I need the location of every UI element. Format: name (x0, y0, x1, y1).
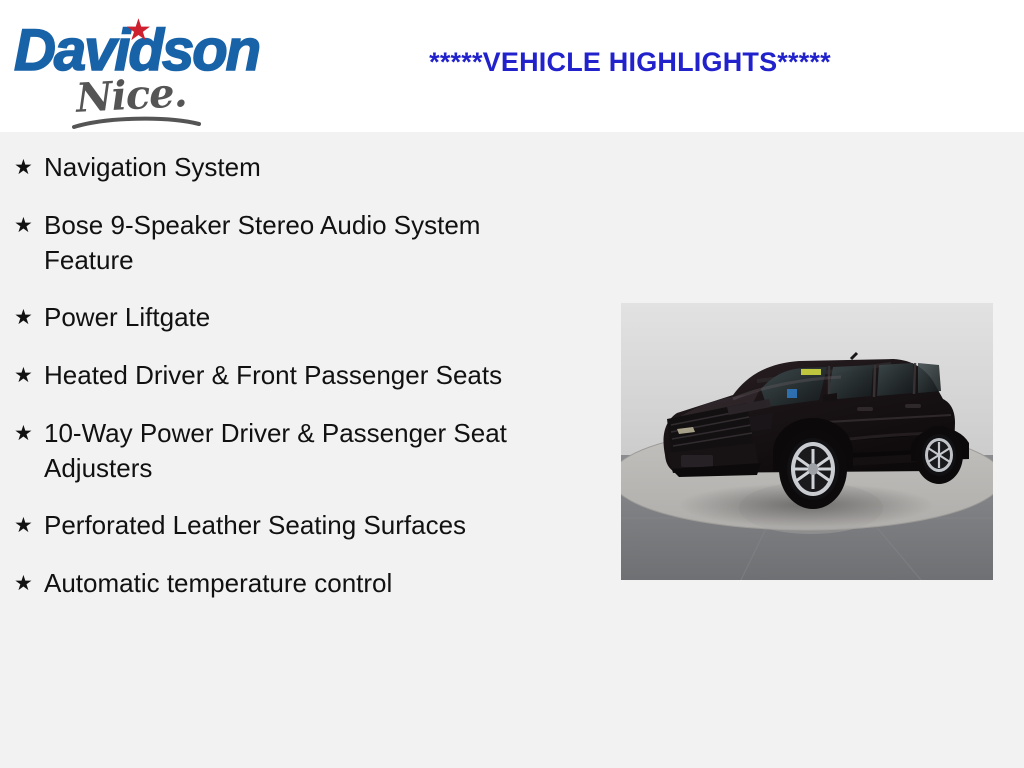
list-item-label: Bose 9-Speaker Stereo Audio System Featu… (44, 208, 556, 278)
vehicle-highlights-list: ★ Navigation System ★ Bose 9-Speaker Ste… (0, 132, 600, 624)
star-icon: ★ (12, 508, 44, 544)
list-item: ★ Power Liftgate (12, 300, 572, 336)
star-icon: ★ (12, 566, 44, 602)
list-item-label: 10-Way Power Driver & Passenger Seat Adj… (44, 416, 556, 486)
logo-star-icon: ★ (125, 16, 152, 46)
star-icon: ★ (12, 150, 44, 186)
list-item: ★ Navigation System (12, 150, 572, 186)
star-icon: ★ (12, 416, 44, 452)
star-icon: ★ (12, 208, 44, 244)
list-item-label: Heated Driver & Front Passenger Seats (44, 358, 556, 393)
list-item: ★ Automatic temperature control (12, 566, 572, 602)
star-icon: ★ (12, 358, 44, 394)
logo-script-text: Nice. (75, 73, 187, 119)
vehicle-photo[interactable] (621, 303, 993, 580)
list-item: ★ Perforated Leather Seating Surfaces (12, 508, 572, 544)
list-item: ★ Bose 9-Speaker Stereo Audio System Fea… (12, 208, 572, 278)
list-item-label: Perforated Leather Seating Surfaces (44, 508, 556, 543)
list-item: ★ 10-Way Power Driver & Passenger Seat A… (12, 416, 572, 486)
page-title: *****VEHICLE HIGHLIGHTS***** (300, 47, 960, 77)
page-header: Davidson ★ Nice. *****VEHICLE HIGHLIGHTS… (0, 0, 1024, 132)
dealer-logo[interactable]: Davidson ★ Nice. (14, 8, 274, 126)
list-item-label: Navigation System (44, 150, 556, 185)
list-item-label: Power Liftgate (44, 300, 556, 335)
list-item-label: Automatic temperature control (44, 566, 556, 601)
logo-swoosh-icon (72, 116, 202, 130)
list-item: ★ Heated Driver & Front Passenger Seats (12, 358, 572, 394)
star-icon: ★ (12, 300, 44, 336)
